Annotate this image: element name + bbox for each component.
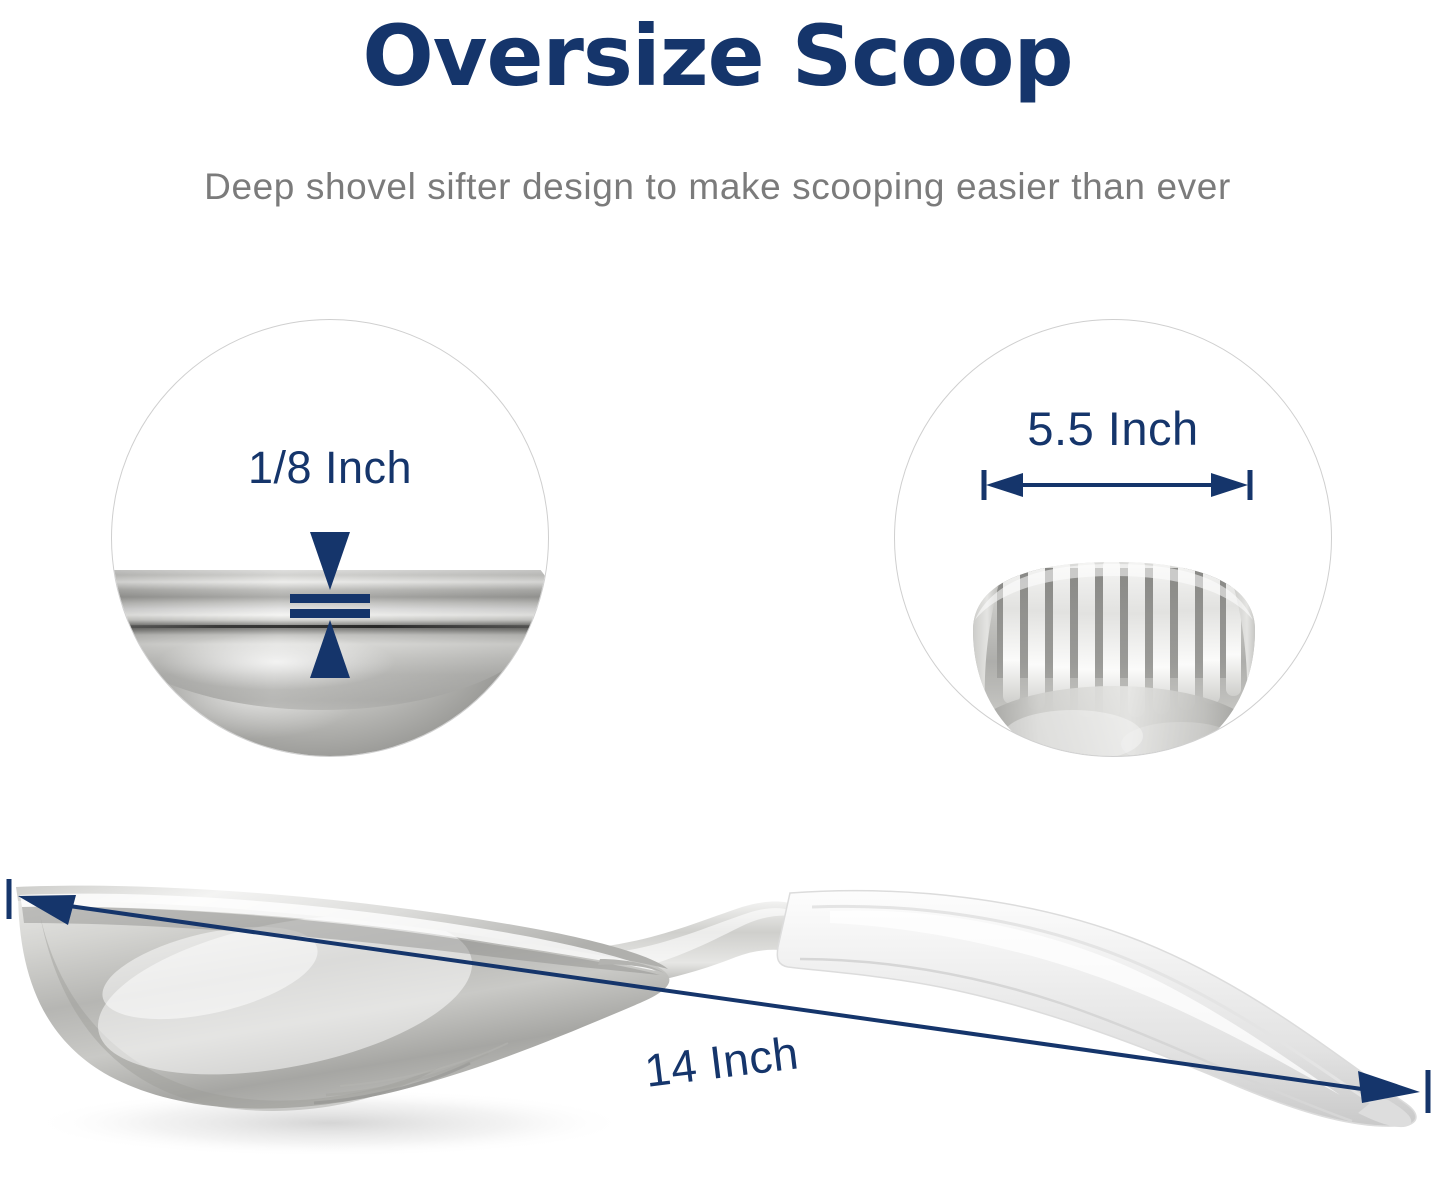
- thickness-gap-bar-bottom-icon: [290, 609, 370, 618]
- width-label: 5.5 Inch: [895, 402, 1331, 456]
- thickness-marker-bottom-triangle-icon: [310, 620, 350, 678]
- scoop-front-slotted-illustration: [963, 558, 1265, 757]
- page-subtitle: Deep shovel sifter design to make scoopi…: [0, 163, 1435, 211]
- thickness-gap-bar-top-icon: [290, 594, 370, 603]
- page-title: Oversize Scoop: [0, 8, 1435, 104]
- detail-circle-width: 5.5 Inch: [894, 319, 1332, 757]
- thickness-marker-top-triangle-icon: [310, 532, 350, 590]
- infographic-page: Oversize Scoop Deep shovel sifter design…: [0, 0, 1435, 1189]
- thickness-label: 1/8 Inch: [112, 442, 548, 494]
- width-dimension-arrow-icon: [981, 468, 1253, 502]
- detail-circle-thickness: 1/8 Inch: [111, 319, 549, 757]
- product-scoop-illustration: [0, 855, 1435, 1189]
